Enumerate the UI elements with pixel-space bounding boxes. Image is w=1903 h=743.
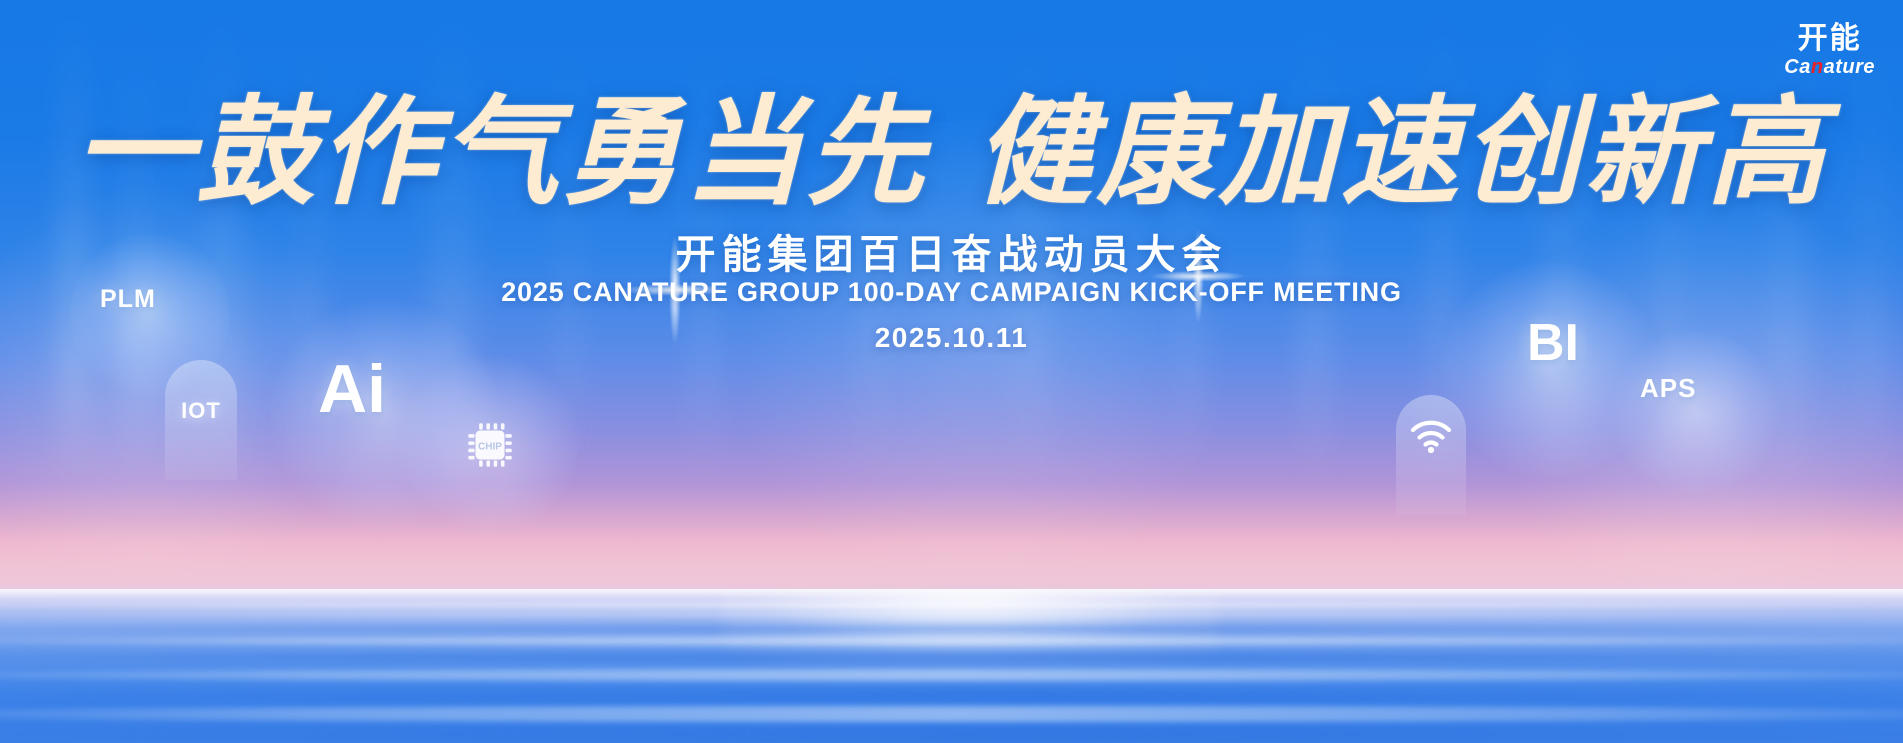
tag-iot-pill[interactable]: IOT <box>165 360 237 480</box>
headline-phrase-1: 一鼓作气勇当先 <box>74 82 928 221</box>
subtitle-english: 2025 CANATURE GROUP 100-DAY CAMPAIGN KIC… <box>0 277 1903 308</box>
logo-en-suffix: ature <box>1824 56 1875 78</box>
event-date: 2025.10.11 <box>0 322 1903 354</box>
logo-en-prefix: Ca <box>1784 56 1811 78</box>
chip-icon: CHIP <box>461 416 519 474</box>
tag-iot-label: IOT <box>181 398 221 424</box>
brand-logo[interactable]: 开能 Canature <box>1784 24 1875 77</box>
logo-english-name: Canature <box>1784 57 1875 77</box>
subtitle-chinese: 开能集团百日奋战动员大会 <box>0 222 1903 280</box>
chip-badge[interactable]: CHIP <box>455 410 525 480</box>
event-banner: 开能 Canature 一鼓作气勇当先健康加速创新高 开能集团百日奋战动员大会 … <box>0 0 1903 743</box>
logo-en-accent: n <box>1811 56 1824 78</box>
headline-phrase-2: 健康加速创新高 <box>975 82 1829 221</box>
chip-icon-label: CHIP <box>478 442 502 453</box>
tag-aps[interactable]: APS <box>1640 373 1696 404</box>
tag-plm[interactable]: PLM <box>100 285 156 314</box>
wifi-icon <box>1409 417 1453 453</box>
water-surface <box>0 589 1903 743</box>
page-title: 一鼓作气勇当先健康加速创新高 <box>0 92 1903 212</box>
tag-wifi-pill[interactable] <box>1396 395 1466 515</box>
tag-ai[interactable]: Ai <box>318 350 386 428</box>
logo-chinese-name: 开能 <box>1784 24 1875 54</box>
aps-halo <box>1610 330 1780 495</box>
tag-bi[interactable]: BI <box>1527 313 1579 373</box>
